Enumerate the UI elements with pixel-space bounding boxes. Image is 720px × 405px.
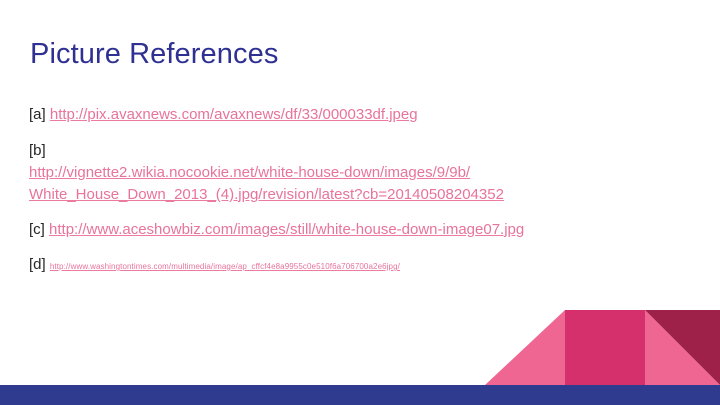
reference-line: [a] http://pix.avaxnews.com/avaxnews/df/… bbox=[29, 104, 669, 126]
reference-link-b-line1[interactable]: http://vignette2.wikia.nocookie.net/whit… bbox=[29, 164, 470, 181]
reference-line: [d] http://www.washingtontimes.com/multi… bbox=[29, 255, 669, 277]
reference-line: [b] bbox=[29, 140, 669, 162]
list-item: [d] http://www.washingtontimes.com/multi… bbox=[29, 255, 669, 277]
reference-line: White_House_Down_2013_(4).jpg/revision/l… bbox=[29, 184, 669, 206]
reference-link-c[interactable]: http://www.aceshowbiz.com/images/still/w… bbox=[49, 221, 524, 238]
list-item: [c] http://www.aceshowbiz.com/images/sti… bbox=[29, 219, 669, 241]
reference-link-d[interactable]: http://www.washingtontimes.com/multimedi… bbox=[50, 262, 400, 271]
reference-tag-b: [b] bbox=[29, 142, 46, 159]
reference-tag-d: [d] bbox=[29, 256, 46, 273]
reference-line: http://vignette2.wikia.nocookie.net/whit… bbox=[29, 162, 669, 184]
light-pink-triangle bbox=[645, 310, 720, 385]
reference-tag-a: [a] bbox=[29, 106, 46, 123]
dark-maroon-triangle bbox=[645, 310, 720, 385]
list-item: [b] http://vignette2.wikia.nocookie.net/… bbox=[29, 140, 669, 206]
slide-canvas: Picture References [a] http://pix.avaxne… bbox=[0, 0, 720, 405]
reference-tag-c: [c] bbox=[29, 221, 45, 238]
list-item: [a] http://pix.avaxnews.com/avaxnews/df/… bbox=[29, 104, 669, 126]
medium-pink-rectangle bbox=[565, 310, 645, 385]
bottom-accent-bar bbox=[0, 385, 720, 405]
reference-line: [c] http://www.aceshowbiz.com/images/sti… bbox=[29, 219, 669, 241]
reference-link-a[interactable]: http://pix.avaxnews.com/avaxnews/df/33/0… bbox=[50, 106, 418, 123]
page-title: Picture References bbox=[30, 37, 278, 71]
reference-link-b-line2[interactable]: White_House_Down_2013_(4).jpg/revision/l… bbox=[29, 186, 504, 203]
light-pink-trapezoid bbox=[485, 310, 565, 385]
reference-list: [a] http://pix.avaxnews.com/avaxnews/df/… bbox=[29, 104, 669, 291]
